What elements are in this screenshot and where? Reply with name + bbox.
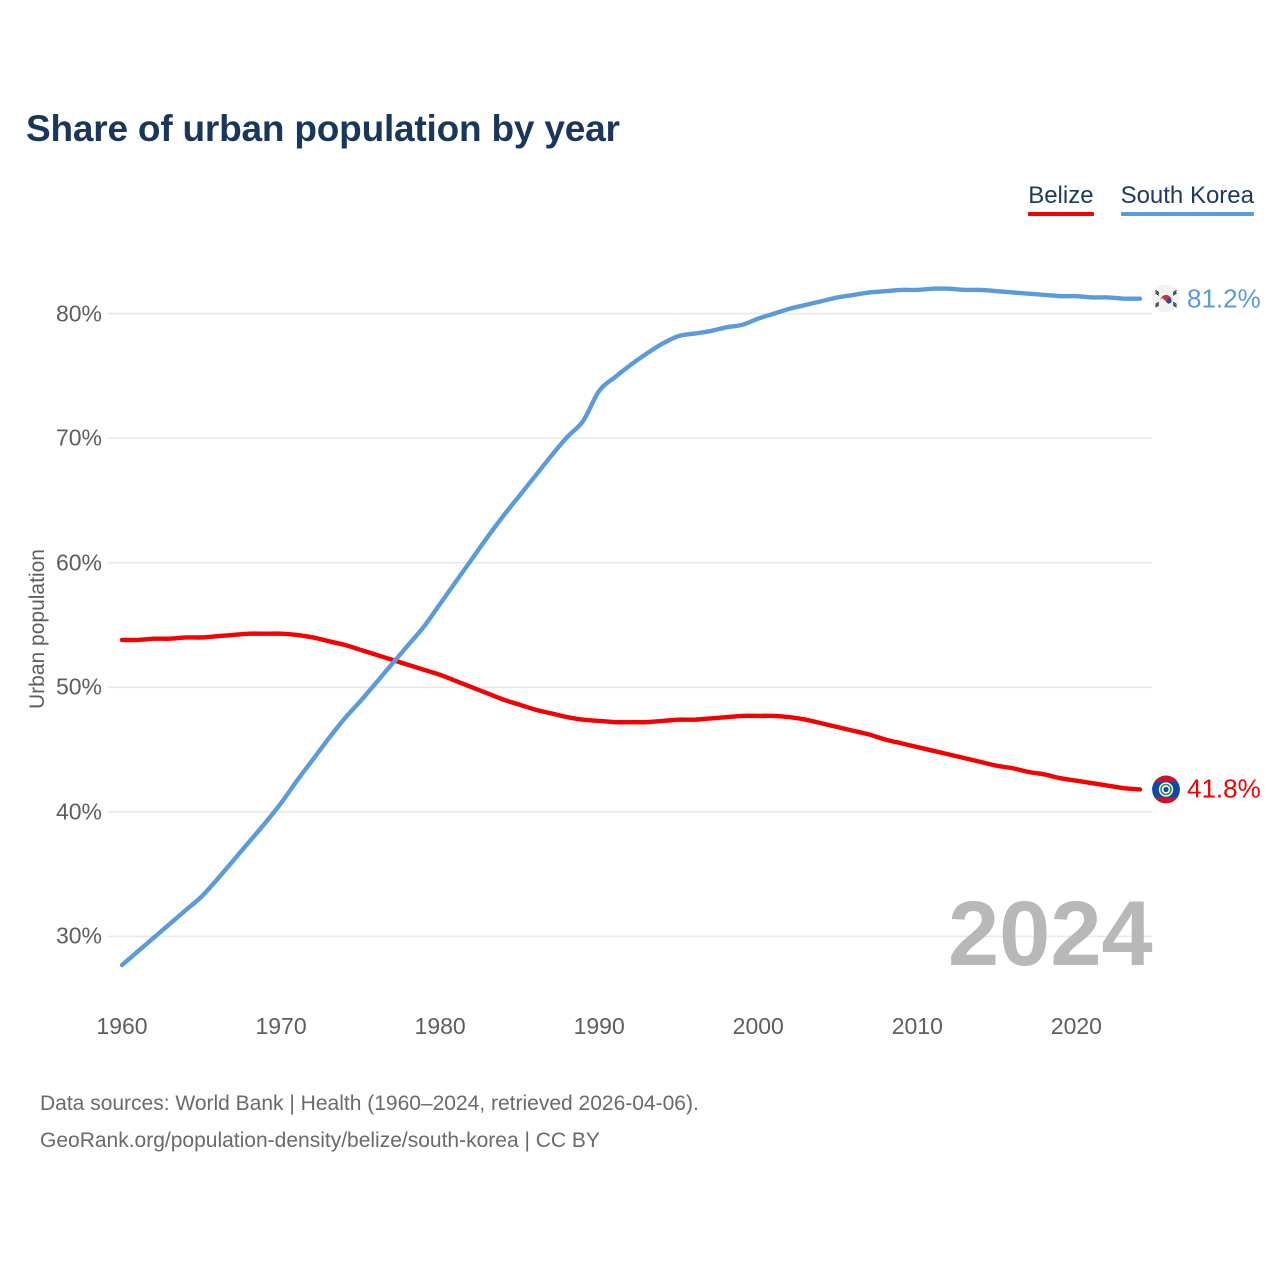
y-axis-tick-label: 50% xyxy=(12,674,102,701)
y-axis-tick-label: 60% xyxy=(12,549,102,576)
x-axis-tick-label: 2020 xyxy=(1051,1013,1102,1040)
x-axis-tick-label: 2000 xyxy=(733,1013,784,1040)
belize-flag-icon xyxy=(1152,775,1180,803)
x-axis-tick-label: 2010 xyxy=(892,1013,943,1040)
year-watermark: 2024 xyxy=(948,888,1153,980)
x-axis-tick-label: 1980 xyxy=(415,1013,466,1040)
x-axis-tick-label: 1960 xyxy=(96,1013,147,1040)
endpoint-value-south-korea: 81.2% xyxy=(1187,283,1261,314)
chart-container: Share of urban population by year Belize… xyxy=(0,0,1280,1280)
y-axis-tick-label: 70% xyxy=(12,425,102,452)
footer-line-sources: Data sources: World Bank | Health (1960–… xyxy=(40,1085,699,1122)
series-lines xyxy=(122,289,1140,966)
endpoint-belize: 41.8% xyxy=(1152,774,1261,805)
footer-line-attribution: GeoRank.org/population-density/belize/so… xyxy=(40,1122,699,1159)
gridlines xyxy=(108,314,1152,937)
y-axis-tick-label: 80% xyxy=(12,300,102,327)
y-axis-tick-label: 30% xyxy=(12,923,102,950)
footer: Data sources: World Bank | Health (1960–… xyxy=(40,1085,699,1160)
endpoint-value-belize: 41.8% xyxy=(1187,774,1261,805)
series-line-belize xyxy=(122,634,1140,790)
series-line-south-korea xyxy=(122,289,1140,966)
x-axis-tick-label: 1990 xyxy=(574,1013,625,1040)
south-korea-flag-icon xyxy=(1152,285,1180,313)
x-axis-tick-label: 1970 xyxy=(255,1013,306,1040)
y-axis-tick-label: 40% xyxy=(12,798,102,825)
endpoint-south-korea: 81.2% xyxy=(1152,283,1261,314)
